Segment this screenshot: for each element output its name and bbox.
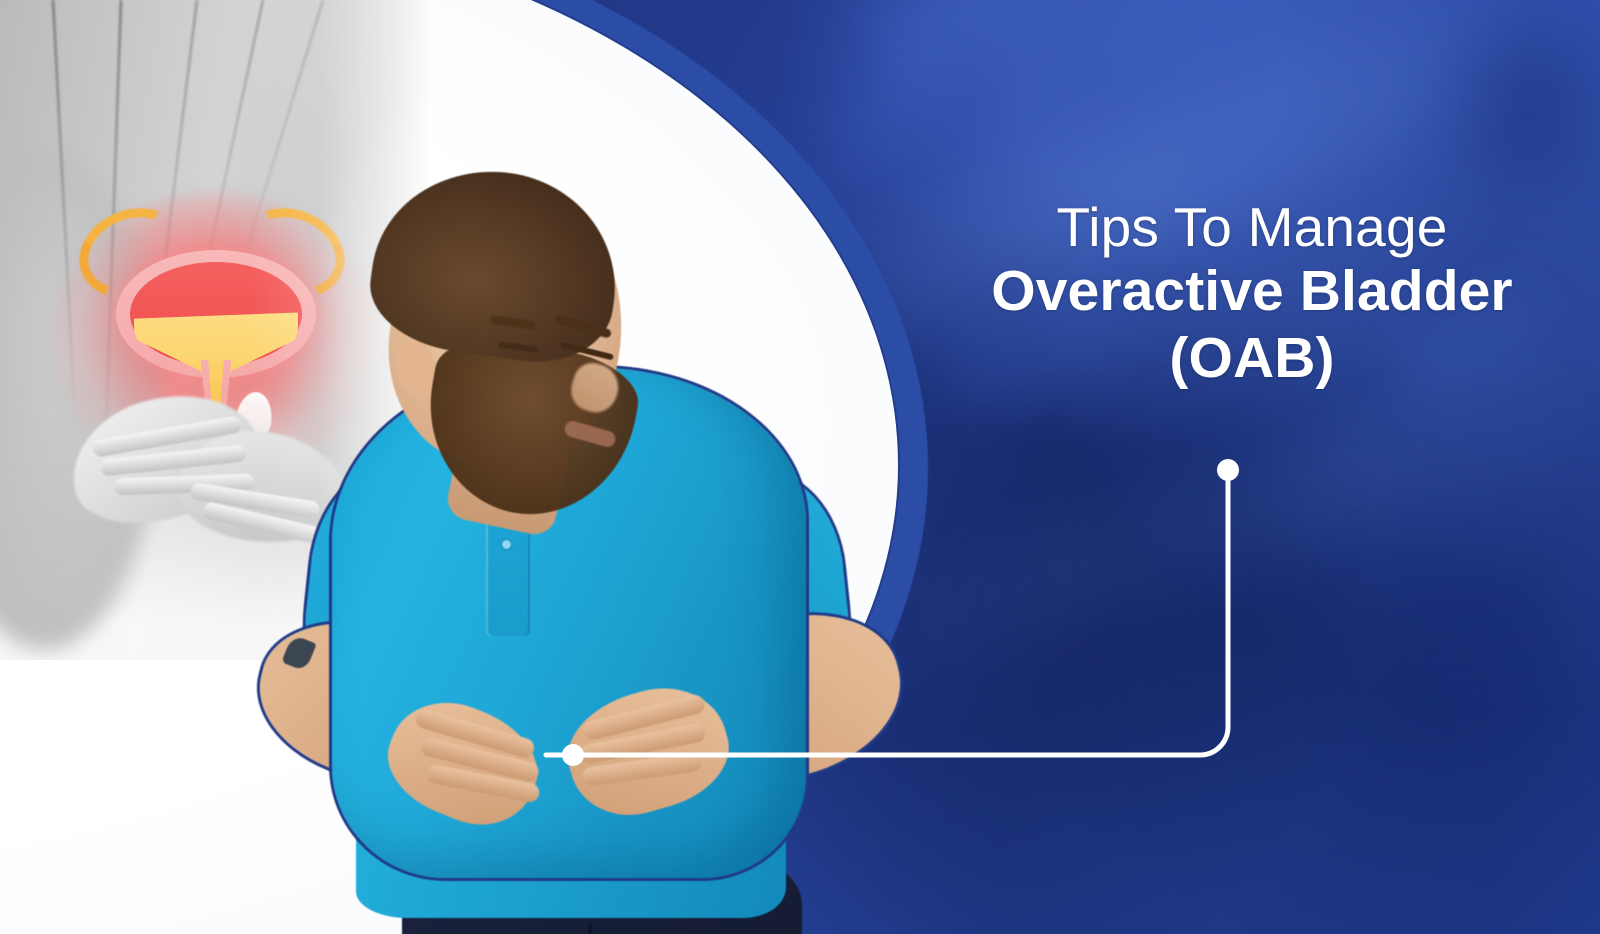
title-line-3: (OAB) [952,325,1552,392]
trouser-seam [588,924,592,934]
banner-title: Tips To Manage Overactive Bladder (OAB) [952,196,1552,393]
title-line-2: Overactive Bladder [952,258,1552,325]
shirt-button [502,540,511,549]
oab-awareness-banner: Tips To Manage Overactive Bladder (OAB) [0,0,1600,934]
corridor-shadow [1380,560,1550,750]
title-line-1: Tips To Manage [952,196,1552,258]
man-in-pain-photo [168,168,908,934]
corridor-shadow [1470,30,1590,180]
corridor-shadow [1140,430,1290,620]
